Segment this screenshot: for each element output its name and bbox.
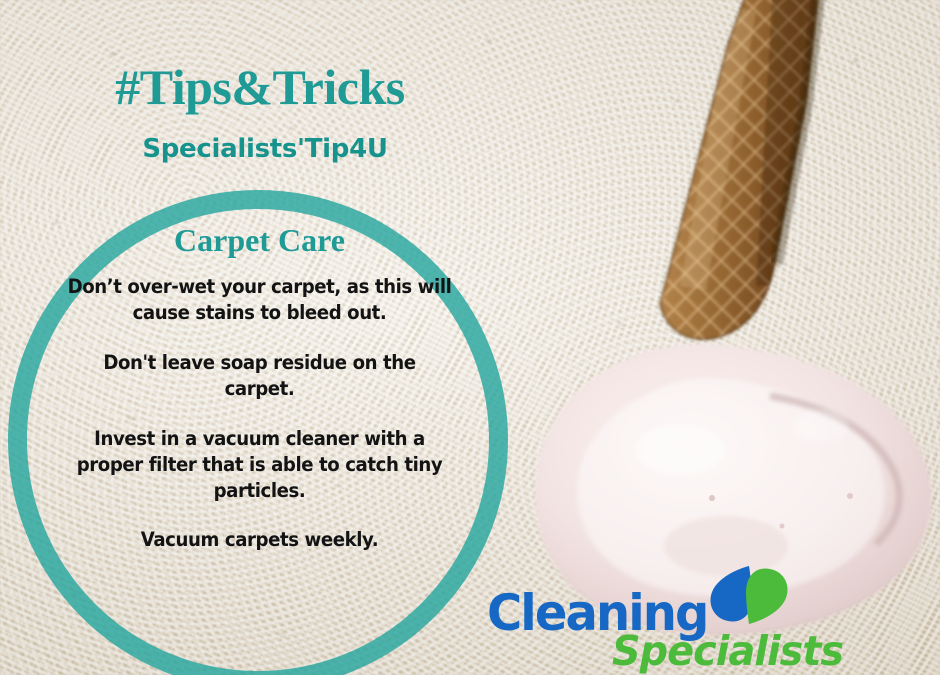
tip-card: Carpet Care Don’t over-wet your carpet, … (52, 224, 467, 553)
list-item: Don't leave soap residue on the carpet. (67, 350, 453, 402)
tip-card-title: Carpet Care (52, 224, 467, 256)
droplets-logo-icon (702, 562, 794, 628)
page-title: #Tips&Tricks (0, 62, 520, 112)
tip-list: Don’t over-wet your carpet, as this will… (52, 274, 467, 553)
list-item: Vacuum carpets weekly. (67, 527, 453, 553)
brand-logo: Cleaning Specialists (487, 560, 887, 672)
logo-word-specialists: Specialists (612, 631, 843, 672)
waffle-cone-image (560, 0, 940, 406)
poster: #Tips&Tricks Specialists'Tip4U Carpet Ca… (0, 0, 940, 675)
list-item: Don’t over-wet your carpet, as this will… (67, 274, 453, 326)
page-subtitle: Specialists'Tip4U (0, 134, 530, 164)
list-item: Invest in a vacuum cleaner with a proper… (67, 426, 453, 504)
